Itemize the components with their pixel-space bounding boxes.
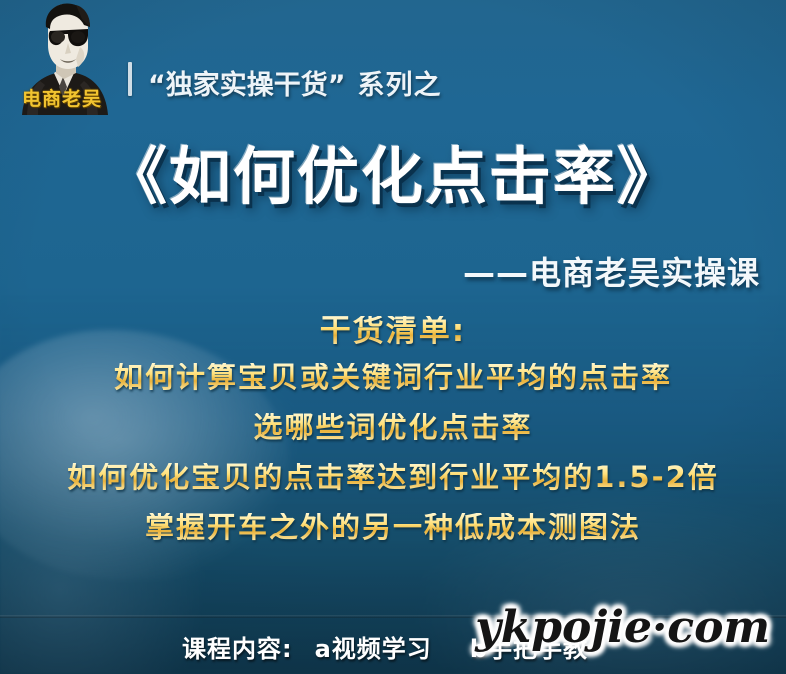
footer-item-video: a视频学习 bbox=[315, 629, 432, 664]
site-watermark: ykpojie·com bbox=[475, 606, 770, 650]
list-item: 如何优化宝贝的点击率达到行业平均的1.5-2倍 bbox=[0, 463, 786, 492]
poster-title: 《如何优化点击率》 bbox=[0, 144, 786, 209]
series-tail-text: 系列之 bbox=[358, 70, 442, 101]
list-item: 掌握开车之外的另一种低成本测图法 bbox=[0, 513, 786, 542]
series-label: “独家实操干货”系列之 bbox=[148, 63, 442, 102]
series-quote-text: “独家实操干货” bbox=[148, 70, 346, 101]
course-poster: 电商老吴 “独家实操干货”系列之 《如何优化点击率》 ——电商老吴实操课 干货清… bbox=[0, 0, 786, 674]
brand-logo: 电商老吴 bbox=[14, 3, 110, 115]
poster-header: 电商老吴 “独家实操干货”系列之 bbox=[0, 0, 786, 118]
highlights-heading: 干货清单: bbox=[0, 316, 786, 347]
footer-label: 课程内容: bbox=[182, 629, 293, 664]
list-item: 选哪些词优化点击率 bbox=[0, 413, 786, 442]
header-divider bbox=[128, 62, 132, 96]
list-item: 如何计算宝贝或关键词行业平均的点击率 bbox=[0, 363, 786, 392]
poster-subtitle: ——电商老吴实操课 bbox=[0, 248, 786, 294]
brand-logo-wordmark: 电商老吴 bbox=[16, 90, 108, 109]
highlights-list: 干货清单: 如何计算宝贝或关键词行业平均的点击率 选哪些词优化点击率 如何优化宝… bbox=[0, 316, 786, 542]
